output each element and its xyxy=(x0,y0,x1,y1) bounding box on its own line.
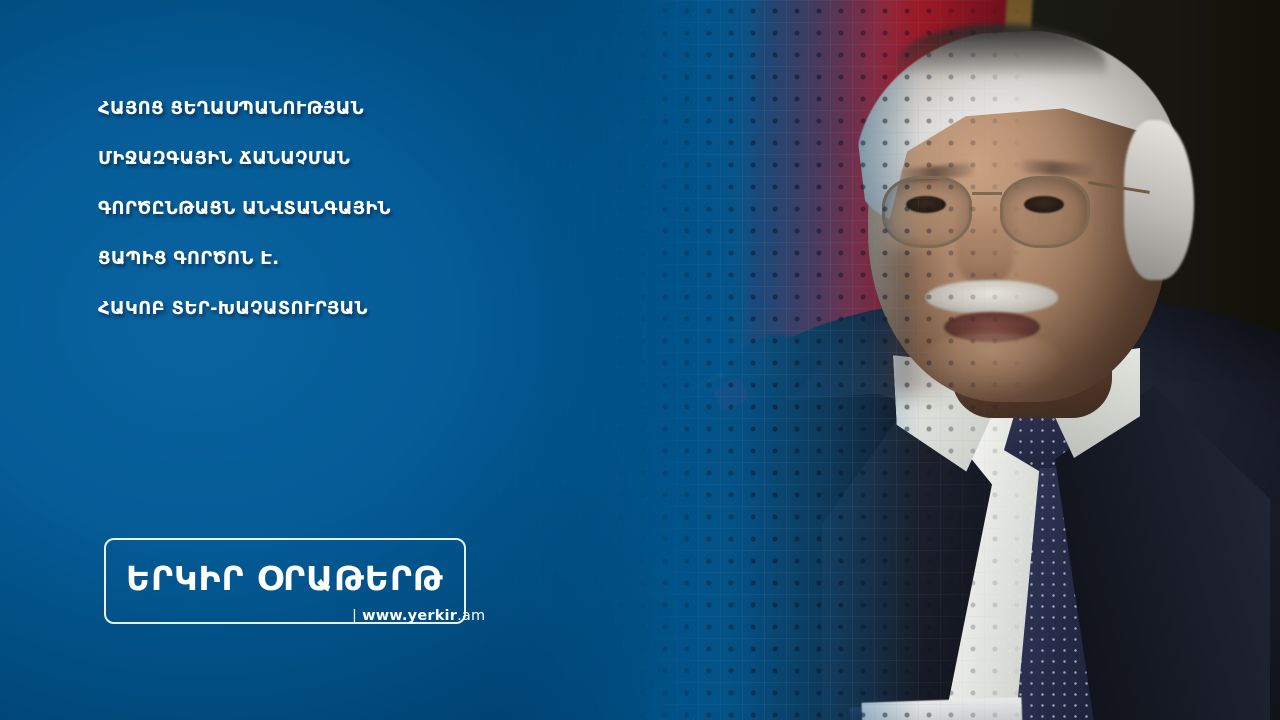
eyeglasses-bridge xyxy=(972,192,1002,195)
headline: ՀԱՅՈՑ ՑԵՂԱՍՊԱՆՈՒԹՅԱՆ ՄԻՋԱԶԳԱՅԻՆ ՃԱՆԱՉՄԱՆ… xyxy=(98,84,658,334)
speaker-photo xyxy=(600,0,1280,720)
hair-top-shadow xyxy=(896,24,1106,78)
url-domain: www.yerkir xyxy=(362,608,457,624)
url-separator: | xyxy=(352,608,357,624)
thumbnail-canvas: ՀԱՅՈՑ ՑԵՂԱՍՊԱՆՈՒԹՅԱՆ ՄԻՋԱԶԳԱՅԻՆ ՃԱՆԱՉՄԱՆ… xyxy=(0,0,1280,720)
headline-line-3: ԳՈՐԾԸՆԹԱՑՆ ԱՆՎՏԱՆԳԱՅԻՆ xyxy=(98,184,658,234)
headline-line-2: ՄԻՋԱԶԳԱՅԻՆ ՃԱՆԱՉՄԱՆ xyxy=(98,134,658,184)
chin xyxy=(918,332,1066,398)
nose xyxy=(956,200,1014,286)
url-tld: .am xyxy=(457,608,485,624)
logo-wordmark: ԵՐԿԻՐ ՕՐԱԹԵՐԹ xyxy=(126,550,444,608)
headline-line-5: ՀԱԿՈԲ ՏԵՐ-ԽԱՉԱՏՈՒՐՅԱՆ xyxy=(98,284,658,334)
hair-side xyxy=(1124,120,1194,280)
mustache xyxy=(926,280,1058,314)
headline-line-1: ՀԱՅՈՑ ՑԵՂԱՍՊԱՆՈՒԹՅԱՆ xyxy=(98,84,658,134)
website-url[interactable]: |www.yerkir.am xyxy=(352,608,485,624)
headline-line-4: ՑԱՊԻՑ ԳՈՐԾՈՆ Է. xyxy=(98,234,658,284)
